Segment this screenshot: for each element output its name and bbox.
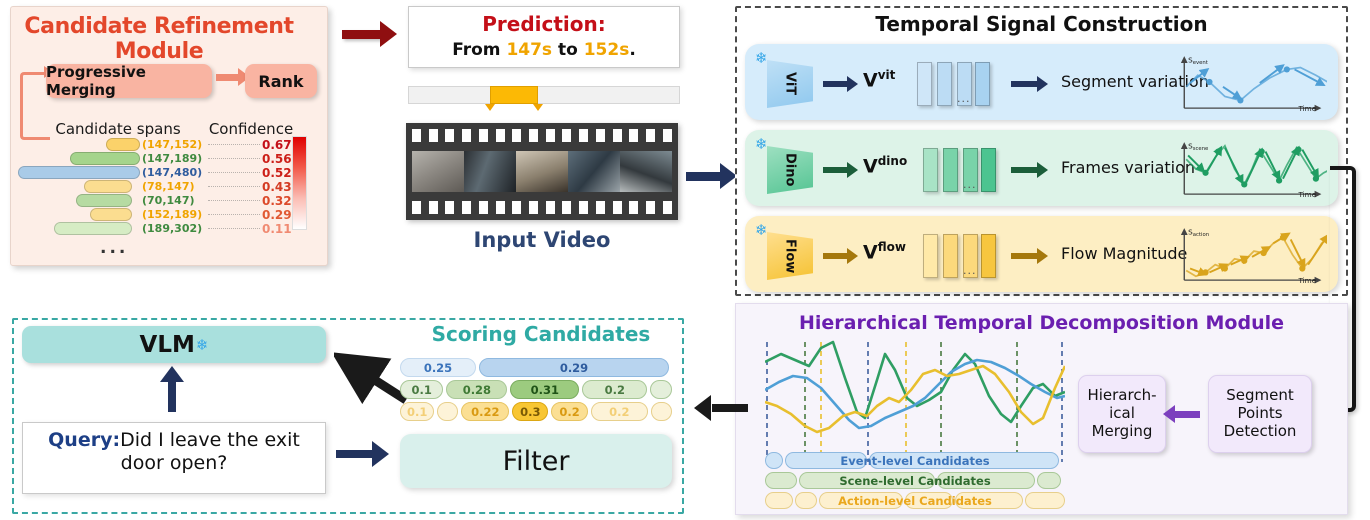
hierarchical-temporal-decomposition-title: Hierarchical Temporal Decomposition Modu… — [735, 312, 1348, 334]
prediction-to-word: to — [558, 40, 578, 60]
candidate-confidence: 0.43 — [262, 180, 296, 194]
encoder-to-feature-arrowhead — [847, 76, 858, 92]
svg-text:Sscene: Sscene — [1188, 142, 1208, 152]
stack-slab — [975, 62, 990, 106]
candidate-rows-ellipsis: ... — [100, 238, 128, 258]
signal-row-vit: ❄ViTVvit...Segment variationSeventTime — [745, 44, 1338, 120]
perforation — [546, 129, 555, 142]
query-to-filter-arrowhead — [372, 441, 389, 467]
feature-vector-label: Vdino — [863, 154, 907, 177]
stack-slab — [923, 148, 938, 192]
perforation — [412, 129, 421, 142]
stack-slab — [923, 234, 938, 278]
feature-stack: ... — [923, 148, 997, 192]
candidate-track-label: Action-level Candidates — [765, 494, 1065, 508]
progressive-merging-label: Progressive Merging — [46, 63, 212, 99]
candidate-bar — [90, 208, 132, 221]
stack-slab — [943, 148, 958, 192]
leader-dots — [208, 186, 260, 187]
feature-to-output-arrowhead — [1037, 76, 1048, 92]
candidate-track-label: Scene-level Candidates — [765, 474, 1065, 488]
perforation — [562, 129, 571, 142]
encoder-to-feature-arrow — [823, 167, 849, 173]
input-video-filmstrip — [406, 123, 678, 220]
stack-ellipsis: ... — [963, 264, 977, 277]
candidate-span-text: (78,147) — [142, 180, 210, 193]
score-cell[interactable]: 0.2 — [582, 380, 647, 399]
video-frames — [412, 151, 672, 192]
candidate-span-text: (152,189) — [142, 208, 210, 221]
segment-points-detection-label: Segment Points Detection — [1224, 387, 1297, 440]
score-cell[interactable]: 0.1 — [400, 380, 443, 399]
svg-text:Sevent: Sevent — [1188, 56, 1208, 66]
stack-slab — [917, 62, 932, 106]
encoder-to-feature-arrowhead — [847, 162, 858, 178]
leader-dots — [208, 200, 260, 201]
spd-line-3: Detection — [1224, 423, 1297, 441]
leader-dots — [208, 214, 260, 215]
segment-points-detection-box[interactable]: Segment Points Detection — [1208, 375, 1312, 453]
perforation — [479, 129, 488, 142]
candidate-row[interactable]: (78,147)0.43 — [10, 179, 310, 193]
perforation — [613, 201, 622, 214]
filter-label: Filter — [503, 446, 570, 477]
candidate-refinement-title: Candidate Refinement Module — [0, 14, 318, 64]
feature-stack: ... — [917, 62, 991, 106]
candidate-confidence: 0.29 — [262, 208, 296, 222]
candidate-span-text: (189,302) — [142, 222, 210, 235]
leader-dots — [208, 228, 260, 229]
query-to-vlm-arrow — [168, 378, 176, 412]
candidate-bar — [70, 152, 140, 165]
score-row-action: 0.10.220.30.20.2 — [400, 402, 672, 421]
video-frame — [464, 151, 516, 192]
perforation — [579, 129, 588, 142]
candidate-row[interactable]: (147,480)0.52 — [10, 165, 310, 179]
score-cell[interactable]: 0.28 — [446, 380, 507, 399]
hm-line-1: Hierarch- — [1087, 387, 1156, 405]
perforation — [496, 129, 505, 142]
candidate-confidence: 0.52 — [262, 166, 296, 180]
progressive-merging-box[interactable]: Progressive Merging — [46, 64, 212, 98]
candidate-bar — [76, 194, 132, 207]
perforation — [596, 129, 605, 142]
timeline-tick-start — [485, 104, 495, 111]
signal-minichart: SactionTime — [1177, 224, 1327, 284]
hierarchical-merging-label: Hierarch- ical Merging — [1087, 387, 1156, 440]
rank-label: Rank — [258, 72, 303, 91]
score-cell[interactable]: 0.2 — [551, 402, 587, 421]
feature-stack: ... — [923, 234, 997, 278]
merge-to-rank-arrow — [216, 74, 240, 81]
snowflake-icon: ❄ — [755, 221, 768, 239]
prediction-range: From 147s to 152s. — [408, 40, 680, 60]
candidate-confidence: 0.11 — [262, 222, 296, 236]
perforation — [646, 201, 655, 214]
perforation — [629, 201, 638, 214]
video-frame — [568, 151, 620, 192]
perforation — [512, 129, 521, 142]
signal-minichart: SsceneTime — [1177, 138, 1327, 198]
score-cell[interactable] — [651, 402, 672, 421]
spd-to-hm-arrowhead — [1163, 405, 1175, 423]
signal-output-label: Flow Magnitude — [1061, 244, 1187, 263]
encoder-label: Flow — [767, 232, 813, 280]
query-box[interactable]: Query:Did I leave the exit door open? — [22, 422, 326, 494]
svg-text:Saction: Saction — [1188, 228, 1209, 238]
temporal-signal-construction-title: Temporal Signal Construction — [735, 12, 1348, 36]
encoder-to-feature-arrowhead — [847, 248, 858, 264]
video-frame — [620, 151, 672, 192]
timeline-tick-end — [533, 104, 543, 111]
prediction-timeline[interactable] — [408, 86, 680, 104]
prediction-period: . — [629, 40, 635, 60]
crm-to-prediction-arrowhead — [380, 21, 397, 47]
candidate-span-text: (147,480) — [142, 166, 210, 179]
score-row-event: 0.250.29 — [400, 358, 672, 377]
query-label: Query: — [48, 429, 120, 451]
perforation — [629, 129, 638, 142]
hierarchical-merging-box[interactable]: Hierarch- ical Merging — [1078, 375, 1166, 453]
htd-to-scoring-arrow — [712, 404, 748, 412]
encoder-to-feature-arrow — [823, 81, 849, 87]
score-cell[interactable]: 0.31 — [510, 380, 579, 399]
score-cell[interactable]: 0.1 — [400, 402, 434, 421]
signal-row-flow: ❄FlowVflow...Flow MagnitudeSactionTime — [745, 216, 1338, 292]
candidate-bar — [54, 222, 132, 235]
vlm-label: VLM — [140, 332, 195, 358]
candidate-row[interactable]: (70,147)0.32 — [10, 193, 310, 207]
perforation — [412, 201, 421, 214]
confidence-header: Confidence — [196, 120, 306, 138]
hm-line-3: Merging — [1087, 423, 1156, 441]
score-row-scene: 0.10.280.310.2 — [400, 380, 672, 399]
video-frame — [412, 151, 464, 192]
input-video-label: Input Video — [406, 228, 678, 252]
prediction-timeline-selection[interactable] — [490, 86, 538, 104]
perforation — [479, 201, 488, 214]
perforation — [663, 201, 672, 214]
stack-ellipsis: ... — [963, 178, 977, 191]
perforation — [596, 201, 605, 214]
filmstrip-perforations-top — [412, 129, 672, 142]
spd-line-1: Segment — [1224, 387, 1297, 405]
prediction-from-word: From — [452, 40, 500, 60]
leader-dots — [208, 172, 260, 173]
video-frame — [516, 151, 568, 192]
signal-row-dino: ❄DinoVdino...Frames variationSsceneTime — [745, 130, 1338, 206]
crm-to-prediction-arrow — [342, 30, 382, 39]
video-to-tsc-arrow — [686, 172, 724, 181]
feature-vector-label: Vflow — [863, 240, 906, 263]
candidate-row[interactable]: (189,302)0.11 — [10, 221, 310, 235]
perforation — [562, 201, 571, 214]
candidate-confidence: 0.32 — [262, 194, 296, 208]
perforation — [663, 129, 672, 142]
perforation — [445, 129, 454, 142]
candidate-span-text: (147,152) — [142, 138, 210, 151]
stack-slab — [981, 234, 996, 278]
rank-box[interactable]: Rank — [245, 64, 317, 98]
encoder-label: Dino — [767, 146, 813, 194]
confidence-colorbar — [292, 136, 307, 230]
snowflake-icon: ❄ — [755, 49, 768, 67]
score-cell[interactable]: 0.2 — [591, 402, 648, 421]
feature-vector-label: Vvit — [863, 68, 895, 91]
encoder-to-feature-arrow — [823, 253, 849, 259]
feature-to-output-arrowhead — [1037, 162, 1048, 178]
stack-slab — [937, 62, 952, 106]
spd-line-2: Points — [1224, 405, 1297, 423]
perforation — [429, 201, 438, 214]
perforation — [496, 201, 505, 214]
snowflake-icon: ❄ — [755, 135, 768, 153]
spd-to-hm-arrow — [1172, 411, 1200, 418]
signal-output-label: Frames variation — [1061, 158, 1195, 177]
candidate-track-label: Event-level Candidates — [765, 454, 1065, 468]
stack-slab — [943, 234, 958, 278]
perforation — [429, 129, 438, 142]
signal-minichart: SeventTime — [1177, 52, 1327, 112]
perforation — [613, 129, 622, 142]
perforation — [462, 129, 471, 142]
candidate-bar — [18, 166, 140, 179]
query-text: Did I leave the exit door open? — [120, 429, 300, 474]
perforation — [529, 129, 538, 142]
svg-text:Time: Time — [1297, 104, 1316, 112]
candidate-span-text: (70,147) — [142, 194, 210, 207]
score-cell[interactable]: 0.22 — [461, 402, 509, 421]
htd-signal-plot — [765, 340, 1065, 465]
candidate-row[interactable]: (147,189)0.56 — [10, 151, 310, 165]
perforation — [512, 201, 521, 214]
candidate-bar — [84, 180, 132, 193]
score-cell[interactable] — [650, 380, 672, 399]
scoring-candidates-title: Scoring Candidates — [398, 322, 684, 346]
candidate-row[interactable]: (152,189)0.29 — [10, 207, 310, 221]
perforation — [529, 201, 538, 214]
feature-to-output-arrow — [1011, 253, 1039, 259]
filmstrip-perforations-bottom — [412, 201, 672, 214]
feature-to-output-arrow — [1011, 167, 1039, 173]
svg-text:Time: Time — [1297, 276, 1316, 284]
snowflake-icon: ❄ — [196, 336, 209, 354]
candidate-bar-track — [18, 221, 140, 237]
hm-line-2: ical — [1087, 405, 1156, 423]
candidate-confidence: 0.56 — [262, 152, 296, 166]
stack-slab — [981, 148, 996, 192]
candidate-row[interactable]: (147,152)0.67 — [10, 137, 310, 151]
vlm-box[interactable]: VLM❄ — [22, 326, 326, 363]
leader-dots — [208, 158, 260, 159]
prediction-start: 147s — [506, 40, 552, 60]
svg-text:Time: Time — [1297, 190, 1316, 198]
feature-to-output-arrow — [1011, 81, 1039, 87]
query-to-vlm-arrowhead — [160, 366, 184, 382]
candidate-span-text: (147,189) — [142, 152, 210, 165]
candidate-spans-header: Candidate spans — [48, 120, 188, 138]
htd-plot-svg — [765, 340, 1065, 465]
perforation — [579, 201, 588, 214]
perforation — [646, 129, 655, 142]
prediction-title: Prediction: — [408, 12, 680, 36]
htd-to-scoring-arrowhead — [694, 395, 711, 421]
score-cell[interactable] — [437, 402, 458, 421]
candidate-confidence: 0.67 — [262, 138, 296, 152]
perforation — [462, 201, 471, 214]
encoder-label: ViT — [767, 60, 813, 108]
feature-to-output-arrowhead — [1037, 248, 1048, 264]
perforation — [546, 201, 555, 214]
stack-ellipsis: ... — [957, 92, 971, 105]
score-cell[interactable]: 0.29 — [479, 358, 669, 377]
prediction-end: 152s — [584, 40, 630, 60]
leader-dots — [208, 144, 260, 145]
score-cell[interactable]: 0.25 — [400, 358, 476, 377]
perforation — [445, 201, 454, 214]
candidate-bar — [106, 138, 140, 151]
scoring-to-vlm-arrow — [334, 352, 410, 404]
score-cell[interactable]: 0.3 — [512, 402, 548, 421]
filter-box[interactable]: Filter — [400, 434, 672, 488]
